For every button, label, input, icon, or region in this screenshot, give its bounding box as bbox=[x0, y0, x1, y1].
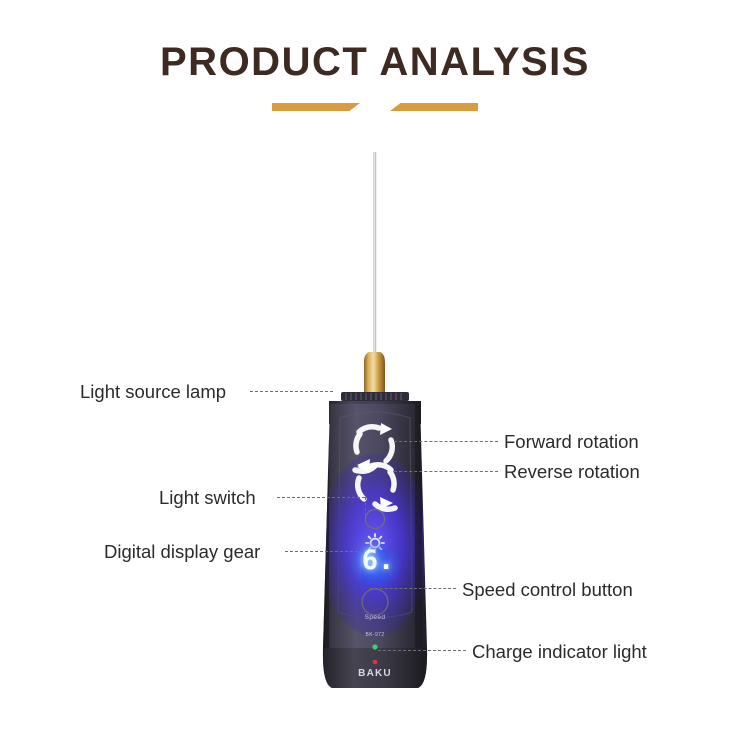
callout-label-forward-rotation: Forward rotation bbox=[504, 431, 639, 453]
page-title: PRODUCT ANALYSIS bbox=[0, 40, 750, 85]
accent-bar-right bbox=[390, 103, 478, 111]
leader-light-switch-vertical bbox=[365, 497, 366, 516]
accent-bar-left bbox=[272, 103, 360, 111]
title-accent-bars bbox=[0, 103, 750, 117]
charge-led-green bbox=[372, 644, 377, 649]
speed-control-button bbox=[362, 589, 388, 615]
model-label: BK-972 bbox=[352, 632, 398, 638]
leader-charge-indicator-light bbox=[378, 650, 466, 651]
product-analysis-infographic: PRODUCT ANALYSIS bbox=[0, 0, 750, 750]
leader-forward-rotation bbox=[394, 441, 498, 442]
callout-label-charge-indicator-light: Charge indicator light bbox=[472, 641, 647, 663]
brand-logo: BAKU bbox=[335, 668, 415, 679]
forward-arrow-head bbox=[380, 423, 392, 435]
reverse-arrow-head bbox=[357, 461, 370, 473]
callout-label-reverse-rotation: Reverse rotation bbox=[504, 461, 640, 483]
knurled-ring bbox=[341, 392, 409, 401]
charge-led-red bbox=[373, 660, 378, 665]
callout-label-speed-control-button: Speed control button bbox=[462, 579, 633, 601]
gold-collet bbox=[364, 352, 385, 394]
leader-digital-display-gear bbox=[285, 551, 363, 552]
callout-label-light-source-lamp: Light source lamp bbox=[80, 381, 226, 403]
leader-light-source-lamp bbox=[250, 391, 333, 392]
leader-light-switch bbox=[277, 497, 365, 498]
leader-speed-control-button bbox=[370, 588, 456, 589]
top-cap bbox=[329, 401, 421, 424]
top-vent-dot bbox=[373, 410, 376, 413]
display-value: 6. bbox=[358, 545, 398, 576]
reverse-rotation-icon bbox=[358, 465, 395, 510]
forward-arrow-head-2 bbox=[357, 459, 370, 471]
leader-reverse-rotation bbox=[394, 471, 498, 472]
reverse-arrow-head-2 bbox=[380, 497, 393, 509]
forward-rotation-icon bbox=[355, 427, 392, 472]
callout-label-digital-display-gear: Digital display gear bbox=[104, 541, 260, 563]
speed-caption: Speed bbox=[352, 614, 398, 621]
needle-probe bbox=[373, 152, 376, 362]
callout-label-light-switch: Light switch bbox=[159, 487, 256, 509]
light-switch-button bbox=[366, 510, 385, 529]
